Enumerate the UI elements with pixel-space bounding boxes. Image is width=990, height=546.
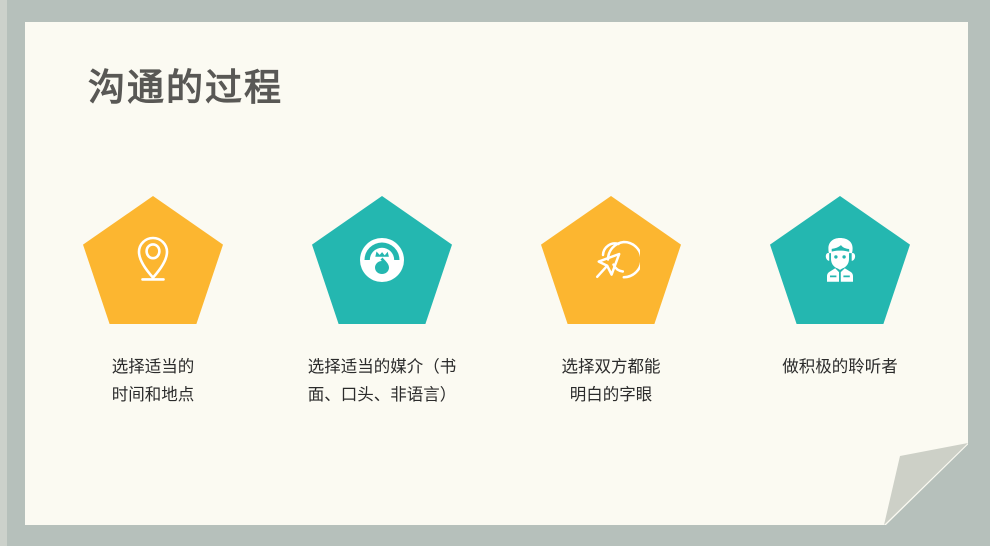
step-caption-4: 做积极的聆听者 (782, 353, 898, 381)
slide-root: 沟通的过程 选择适当的 时间和地点 (0, 0, 990, 546)
step-caption-2: 选择适当的媒介（书 面、口头、非语言） (308, 353, 457, 410)
page-curl-fold (884, 442, 968, 525)
step-item-4[interactable]: 做积极的聆听者 (740, 196, 940, 381)
page-title: 沟通的过程 (88, 66, 283, 110)
cursor-click-icon (582, 231, 640, 289)
step-caption-1: 选择适当的 时间和地点 (112, 353, 195, 410)
step-item-3[interactable]: 选择双方都能 明白的字眼 (511, 196, 711, 410)
location-pin-icon (124, 231, 182, 289)
steps-row: 选择适当的 时间和地点 选择适当 (25, 196, 968, 410)
left-edge-strip (0, 0, 7, 546)
step-shape-2[interactable] (312, 196, 452, 324)
step-caption-3: 选择双方都能 明白的字眼 (562, 353, 661, 410)
person-listener-icon (811, 231, 869, 289)
step-shape-4[interactable] (770, 196, 910, 324)
step-item-2[interactable]: 选择适当的媒介（书 面、口头、非语言） (282, 196, 482, 410)
globe-icon (353, 231, 411, 289)
step-item-1[interactable]: 选择适当的 时间和地点 (53, 196, 253, 410)
step-shape-3[interactable] (541, 196, 681, 324)
step-shape-1[interactable] (83, 196, 223, 324)
